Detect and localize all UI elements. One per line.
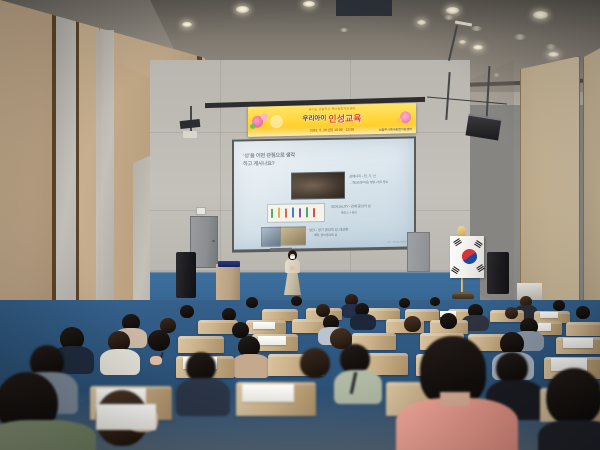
audience-body [350,314,376,330]
presenter-hand [290,266,295,270]
downlight [236,6,249,13]
audience-head [576,306,590,319]
banner-subtitle: 우리아이 [302,115,326,123]
slide-footer: 출처 : 한국성교육연구소 [387,240,409,244]
audience-body [100,349,140,375]
audience-head [404,316,421,332]
audience-head [553,300,565,311]
audience-head [505,307,518,319]
downlight [417,20,426,25]
downlight [533,11,548,19]
audience-body [232,354,270,378]
pictogram [313,208,315,217]
slide-item-label-1: 성에너지 - 정, 기, 신 [349,174,376,179]
downlight [548,52,559,57]
pictogram [271,209,273,218]
audience-head [246,297,258,308]
banner-organizer: 남양주시육아종합지원센터 [379,127,412,132]
audience-head [180,305,194,318]
pictogram [278,208,280,218]
sprinkler [514,34,526,40]
handout-paper [242,384,294,402]
audience-head [430,297,440,306]
handout-paper [540,312,558,318]
audience-head [291,296,302,306]
foreground-body-left [0,420,96,450]
floor-speaker-left [176,252,196,298]
audience-hand [150,356,162,365]
acoustic-panel [583,40,600,332]
utility-panel [407,232,430,272]
banner-main-title: 인성교육 [328,113,361,124]
audience-body [176,378,230,416]
audience-head [440,313,457,329]
audience-head [148,330,170,351]
slide-image-dark [291,172,345,200]
podium-sign [218,261,240,267]
event-banner: 경기도 남양주시 육아종합지원센터 우리아이인성교육 2022. 5. 20.(… [248,103,416,137]
acoustic-panel [520,56,580,318]
note-paper-foreground [96,404,156,430]
seat[interactable] [566,322,600,336]
photo-scene: 경기도 남양주시 육아종합지원센터 우리아이인성교육 2022. 5. 20.(… [0,0,600,450]
door-handle-icon[interactable] [212,240,215,242]
pictogram [285,209,287,218]
podium [216,264,240,302]
sprinkler [471,26,482,31]
handout-paper [258,336,286,345]
slide-item-detail-1: → 性(성) 몸·마음, 생명 +생식 중심 [349,180,388,186]
sprinkler [545,44,557,50]
flag-base [452,294,474,299]
slide-image-left [261,227,281,247]
audience-head [399,298,410,308]
slide-item-detail-3: 쾌락, 생식 중심의 성 [314,233,337,238]
pictogram [292,208,294,218]
projector [183,131,197,138]
slide-item-label-2: SEXUALITY - 관계 중심의 성 [331,204,371,210]
seat[interactable] [178,336,224,353]
stage-edge [150,270,480,273]
banner-title: 우리아이인성교육 [248,110,416,127]
handout-paper [253,322,275,329]
downlight [303,1,315,7]
projection-screen: ‘성’을 어떤 관점으로 생각 하고 계시나요? 성에너지 - 정, 기, 신 … [234,138,414,249]
downlight [459,40,466,44]
audience-body [334,370,382,404]
neck [440,392,470,406]
ceiling-beam [336,0,392,16]
slide-item-detail-2: 에로스 + 관심 [341,210,357,215]
foreground-head-right [546,368,600,426]
downlight [182,22,192,27]
sprinkler [340,28,348,32]
presenter-mask [290,256,295,259]
pictogram-group [269,205,321,219]
audience-head [300,348,330,378]
sprinkler [444,15,454,20]
downlight [446,7,459,14]
handout-paper [563,338,593,348]
slide-heading-2: 하고 계시나요? [243,161,275,169]
downlight [473,45,483,50]
slide-image-right [280,226,306,245]
floor-speaker-right [487,252,509,294]
pictogram [299,208,301,217]
pictogram [306,207,308,217]
foreground-body-right [538,420,600,450]
door-sign [196,207,206,215]
slide-heading-1: ‘성’을 어떤 관점으로 생각 [243,153,295,161]
